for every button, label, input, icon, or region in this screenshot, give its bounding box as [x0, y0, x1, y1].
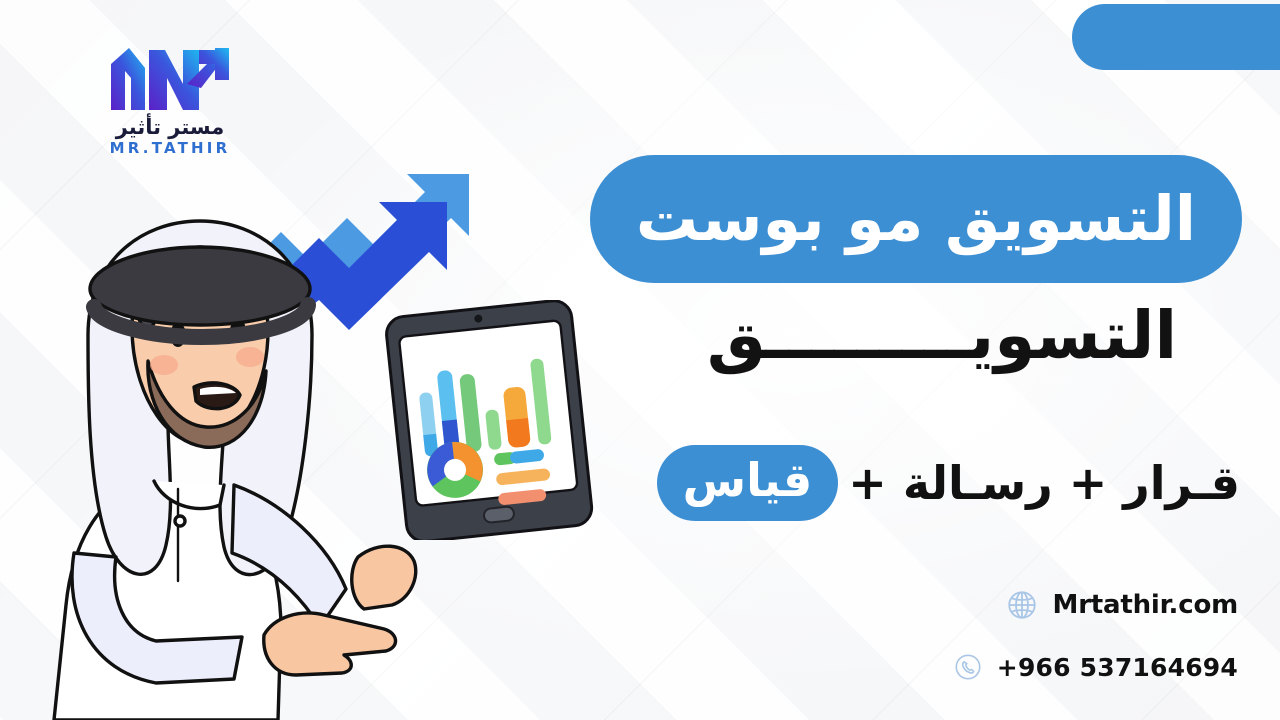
tagline-plain-text: قـرار + رسـالة + — [838, 460, 1240, 506]
tagline-chip: قياس — [657, 445, 839, 521]
tablet-dashboard — [378, 300, 603, 540]
banner-canvas: مستر تأثير MR.TATHIR — [0, 0, 1280, 720]
contact-website[interactable]: Mrtathir.com — [1005, 588, 1238, 622]
brand-name-arabic: مستر تأثير — [95, 116, 245, 139]
globe-icon — [1005, 588, 1039, 622]
brand-name-english: MR.TATHIR — [95, 140, 245, 157]
saudi-man-illustration — [28, 185, 428, 720]
headline-text: التسويق مو بوست — [636, 188, 1196, 250]
contact-phone[interactable]: +966 537164694 — [953, 652, 1238, 682]
gradient-m-arrow-icon — [105, 44, 235, 114]
subheadline-text: التسويـــــــــق — [682, 300, 1202, 373]
phone-icon — [953, 652, 983, 682]
corner-accent-pill — [1072, 4, 1280, 70]
brand-logo: مستر تأثير MR.TATHIR — [95, 44, 245, 157]
phone-text: +966 537164694 — [997, 653, 1238, 682]
website-text: Mrtathir.com — [1053, 590, 1238, 620]
headline-pill: التسويق مو بوست — [590, 155, 1242, 283]
tagline-row: قـرار + رسـالة + قياس — [657, 445, 1240, 521]
